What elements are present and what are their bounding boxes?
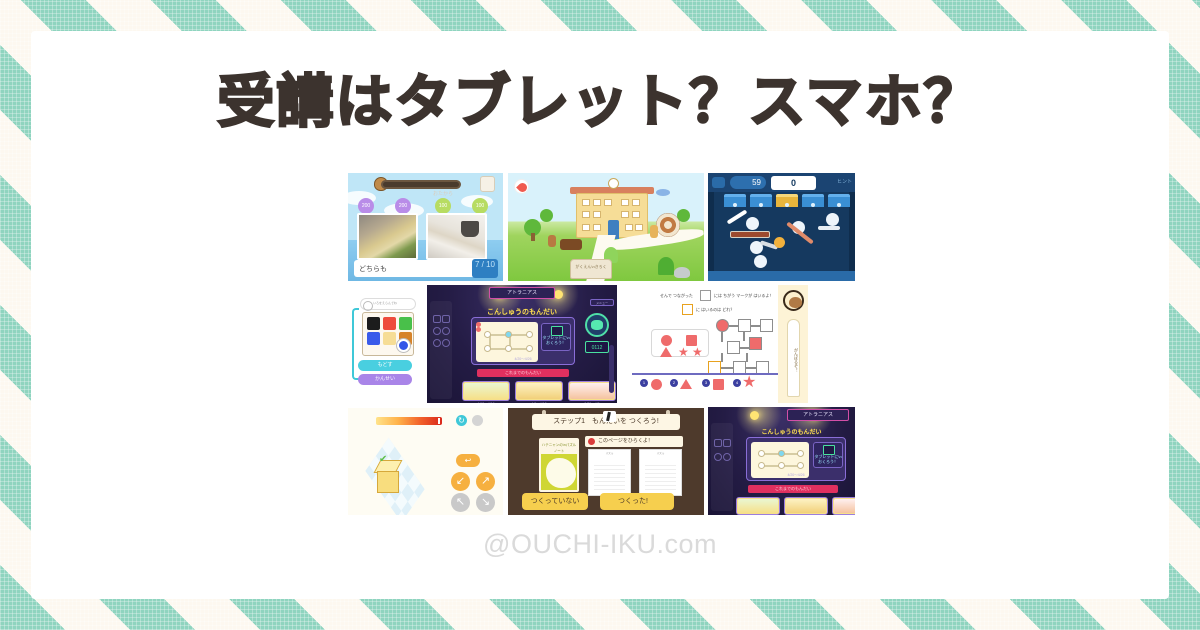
question-line-3: に はいるのは どれ？ — [696, 307, 734, 313]
question-target-box — [682, 304, 693, 315]
question-blank-box — [700, 290, 711, 301]
ufo-icon — [656, 189, 670, 196]
school-building — [576, 193, 648, 238]
past-problem-thumb[interactable]: 3/30〜4/5 — [832, 497, 855, 515]
rail-icon[interactable] — [714, 439, 722, 447]
divider — [632, 373, 794, 375]
catch-bin[interactable] — [828, 194, 850, 207]
screenshot-gallery: おたから 200 200 100 100 どちらも 7 / 10 — [347, 172, 857, 517]
thumb-date: 4/13〜4/19 — [463, 402, 509, 403]
swatch-red[interactable] — [383, 317, 396, 330]
option-number[interactable]: 2 — [670, 379, 678, 387]
option-number[interactable]: 1 — [640, 379, 648, 387]
ball — [754, 255, 767, 268]
lamp-icon — [554, 290, 563, 299]
left-wall — [708, 192, 714, 271]
flower-badge-icon[interactable] — [514, 179, 529, 194]
notebook[interactable]: ハテニャンの\nパズルノート — [539, 438, 579, 492]
worksheet-grid — [645, 462, 676, 490]
lamp-icon — [750, 411, 759, 420]
past-problem-thumb[interactable]: 4/6〜4/12 — [784, 497, 828, 515]
encouragement-text: がんばるぞ！ — [787, 319, 800, 397]
character-icon — [548, 235, 556, 247]
mascot-icon[interactable] — [585, 313, 609, 337]
score-chip: 100 — [472, 198, 488, 214]
not-made-button[interactable]: つくっていない — [522, 493, 588, 510]
past-problem-thumb[interactable]: 4/13〜4/19 — [736, 497, 780, 515]
thumb-date: 3/30〜4/5 — [569, 402, 615, 403]
catch-bin[interactable] — [802, 194, 824, 207]
sheet-icon — [480, 176, 495, 192]
bench-icon — [560, 239, 582, 250]
app-title: アトラニアス — [489, 287, 555, 299]
question-counter: 7 / 10 — [472, 259, 498, 278]
site-watermark: @OUCHI-IKU.com — [0, 529, 1200, 560]
option-shape-square[interactable] — [713, 379, 724, 390]
swatch-black[interactable] — [367, 317, 380, 330]
check-icon: ✔ — [379, 454, 387, 465]
score-chip: 200 — [395, 198, 411, 214]
left-rail — [711, 423, 733, 511]
thumb-image — [517, 383, 561, 399]
swatch-green[interactable] — [399, 317, 412, 330]
catch-bin-gold[interactable] — [776, 194, 798, 207]
rail-icon[interactable] — [714, 453, 722, 461]
info-icon[interactable] — [472, 415, 483, 426]
worksheet-page[interactable]: パズル — [588, 449, 631, 496]
lever[interactable] — [727, 209, 748, 224]
shelf[interactable] — [818, 226, 840, 230]
arrow-up-left-button[interactable]: ↖ — [451, 493, 470, 512]
score-meter: 0112 — [585, 341, 609, 353]
heat-gauge — [376, 417, 442, 425]
pencil-icon — [603, 411, 616, 422]
progress-bar: おたから — [381, 180, 461, 189]
ball — [826, 213, 839, 226]
worksheet-page[interactable]: パズル — [639, 449, 682, 496]
tree-trunk — [531, 233, 535, 241]
selected-color-indicator[interactable] — [397, 339, 410, 352]
option-shape-triangle[interactable] — [680, 379, 692, 389]
send-to-tablet-button[interactable]: タブレットに\nおくろう！ — [813, 442, 843, 468]
question-line-1: せんで つながった — [660, 293, 693, 299]
rail-icon[interactable] — [433, 327, 441, 335]
tile-school-map[interactable]: がくえん\nきろく — [508, 173, 704, 281]
thumb-date: 4/6〜4/12 — [516, 402, 562, 403]
bracket-decoration — [352, 308, 359, 380]
giraffe-icon — [650, 225, 658, 238]
tile-shape-worksheet[interactable]: せんで つながった には ちがう マークが はいるよ！ に はいるのは どれ？ … — [622, 285, 808, 403]
palette-panel[interactable] — [362, 312, 414, 356]
rail-icon[interactable] — [442, 339, 450, 347]
score-display: 0 — [771, 176, 816, 190]
app-title: アトラニアス — [787, 409, 849, 421]
ball — [746, 217, 759, 230]
catch-bin[interactable] — [750, 194, 772, 207]
rail-icon[interactable] — [723, 453, 731, 461]
tile-physics-puzzle[interactable]: 59 0 ヒント — [708, 173, 855, 281]
worksheet-grid — [594, 462, 625, 490]
worksheet-header: パズル — [589, 452, 630, 455]
sign-board[interactable]: がくえん\nきろく — [570, 259, 612, 279]
plank[interactable] — [730, 231, 770, 238]
menu-button[interactable]: メニュー — [590, 299, 614, 306]
tile-photo-quiz[interactable]: おたから 200 200 100 100 どちらも 7 / 10 — [348, 173, 503, 281]
page-title: 受講はタブレット？スマホ？ — [0, 56, 1200, 138]
send-to-tablet-button[interactable]: タブレットに\nおくろう！ — [541, 323, 571, 351]
side-panel: がんばるぞ！ — [778, 285, 808, 403]
progress-label: おたから — [433, 190, 453, 197]
thumb-image — [464, 383, 508, 399]
arrow-down-left-button[interactable]: ↙ — [451, 472, 470, 491]
tile-step-screen[interactable]: ステップ1 もんだいを つくろう! ハテニャンの\nパズルノート このページをひ… — [508, 408, 704, 515]
notebook-illustration — [546, 458, 576, 488]
hint-label[interactable]: ヒント — [837, 178, 852, 185]
swatch-cream[interactable] — [383, 332, 396, 345]
tree-icon — [540, 209, 553, 222]
score-chip: 100 — [435, 198, 451, 214]
redo-button[interactable]: もどす — [358, 360, 412, 371]
option-shape-star[interactable]: ★ — [742, 375, 756, 391]
photo-book-coffee[interactable] — [426, 213, 487, 260]
arrow-up-right-button[interactable]: ↗ — [476, 472, 495, 491]
section-title: こんしゅうのもんだい — [728, 427, 855, 436]
option-number[interactable]: 3 — [702, 379, 710, 387]
done-button[interactable]: かんせい — [358, 374, 412, 385]
undo-button[interactable]: ↩ — [456, 454, 480, 467]
cube-front-face[interactable] — [377, 471, 399, 493]
rail-icon[interactable] — [723, 439, 731, 447]
rock-icon — [674, 267, 690, 278]
pivot[interactable] — [774, 237, 785, 248]
back-arrow-icon[interactable] — [712, 177, 725, 188]
option-shape-circle[interactable] — [651, 379, 662, 390]
problem-board — [476, 322, 538, 362]
swatch-blue[interactable] — [367, 332, 380, 345]
sign-text: がくえん\nきろく — [571, 264, 611, 270]
scrollbar[interactable] — [609, 345, 614, 393]
rail-icon[interactable] — [442, 327, 450, 335]
mascot-avatar — [783, 290, 804, 311]
palm-icon — [658, 257, 674, 275]
clock-icon — [608, 178, 619, 189]
timer-display: 59 — [730, 176, 766, 189]
hint-tag: いろをえらんでね — [360, 298, 416, 310]
option-number[interactable]: 4 — [733, 379, 741, 387]
made-button[interactable]: つくった! — [600, 493, 674, 510]
score-chip: 200 — [358, 198, 374, 214]
rail-icon[interactable] — [433, 339, 441, 347]
shape-legend: ★ ★ — [651, 329, 709, 357]
current-problem-panel[interactable]: タブレットに\nおくろう！ 4/20〜4/26 — [746, 437, 846, 481]
past-problem-thumb[interactable]: 4/6〜4/12 — [515, 381, 563, 401]
past-problems-band[interactable]: これまでのもんだい — [477, 369, 569, 377]
current-problem-panel[interactable]: タブレットに\nおくろう！ 4/20〜4/26 — [471, 317, 575, 365]
question-line-2: には ちがう マークが はいるよ！ — [714, 293, 773, 299]
answer-text: どちらも — [359, 264, 387, 274]
notebook-title: ハテニャンの\nパズルノート — [541, 440, 577, 454]
past-problems-band[interactable]: これまでのもんだい — [748, 485, 838, 493]
thumb-image — [786, 499, 826, 513]
reset-icon[interactable]: ↻ — [456, 415, 467, 426]
past-problem-thumb[interactable]: 4/13〜4/19 — [462, 381, 510, 401]
tile-atlanius-menu[interactable]: アトラニアス メニュー こんしゅうのもんだい — [427, 285, 617, 403]
worksheet-header: パズル — [640, 452, 681, 455]
thumb-image — [738, 499, 778, 513]
tile-isometric-cube[interactable]: ↻ ✔ ↩ ↙ ↗ ↖ ↘ — [348, 408, 503, 515]
tile-color-palette[interactable]: いろをえらんでね もどす かんせい — [348, 290, 422, 398]
photo-sandwich[interactable] — [357, 213, 418, 260]
coffee-mug — [461, 221, 479, 237]
tile-atlanius-menu-2[interactable]: アトラニアス こんしゅうのもんだい タブレットに\nおくろう！ 4/20〜 — [708, 407, 855, 515]
main-date-label: 4/20〜4/26 — [472, 357, 574, 362]
arrow-down-right-button[interactable]: ↘ — [476, 493, 495, 512]
thumb-image — [570, 383, 614, 399]
floor — [708, 271, 855, 281]
target-icon — [656, 213, 680, 237]
thumb-image — [834, 499, 855, 513]
catch-bin[interactable] — [724, 194, 746, 207]
main-date-label: 4/20〜4/26 — [747, 473, 845, 478]
page-open-label: このページをひらくよ！ — [585, 436, 683, 447]
